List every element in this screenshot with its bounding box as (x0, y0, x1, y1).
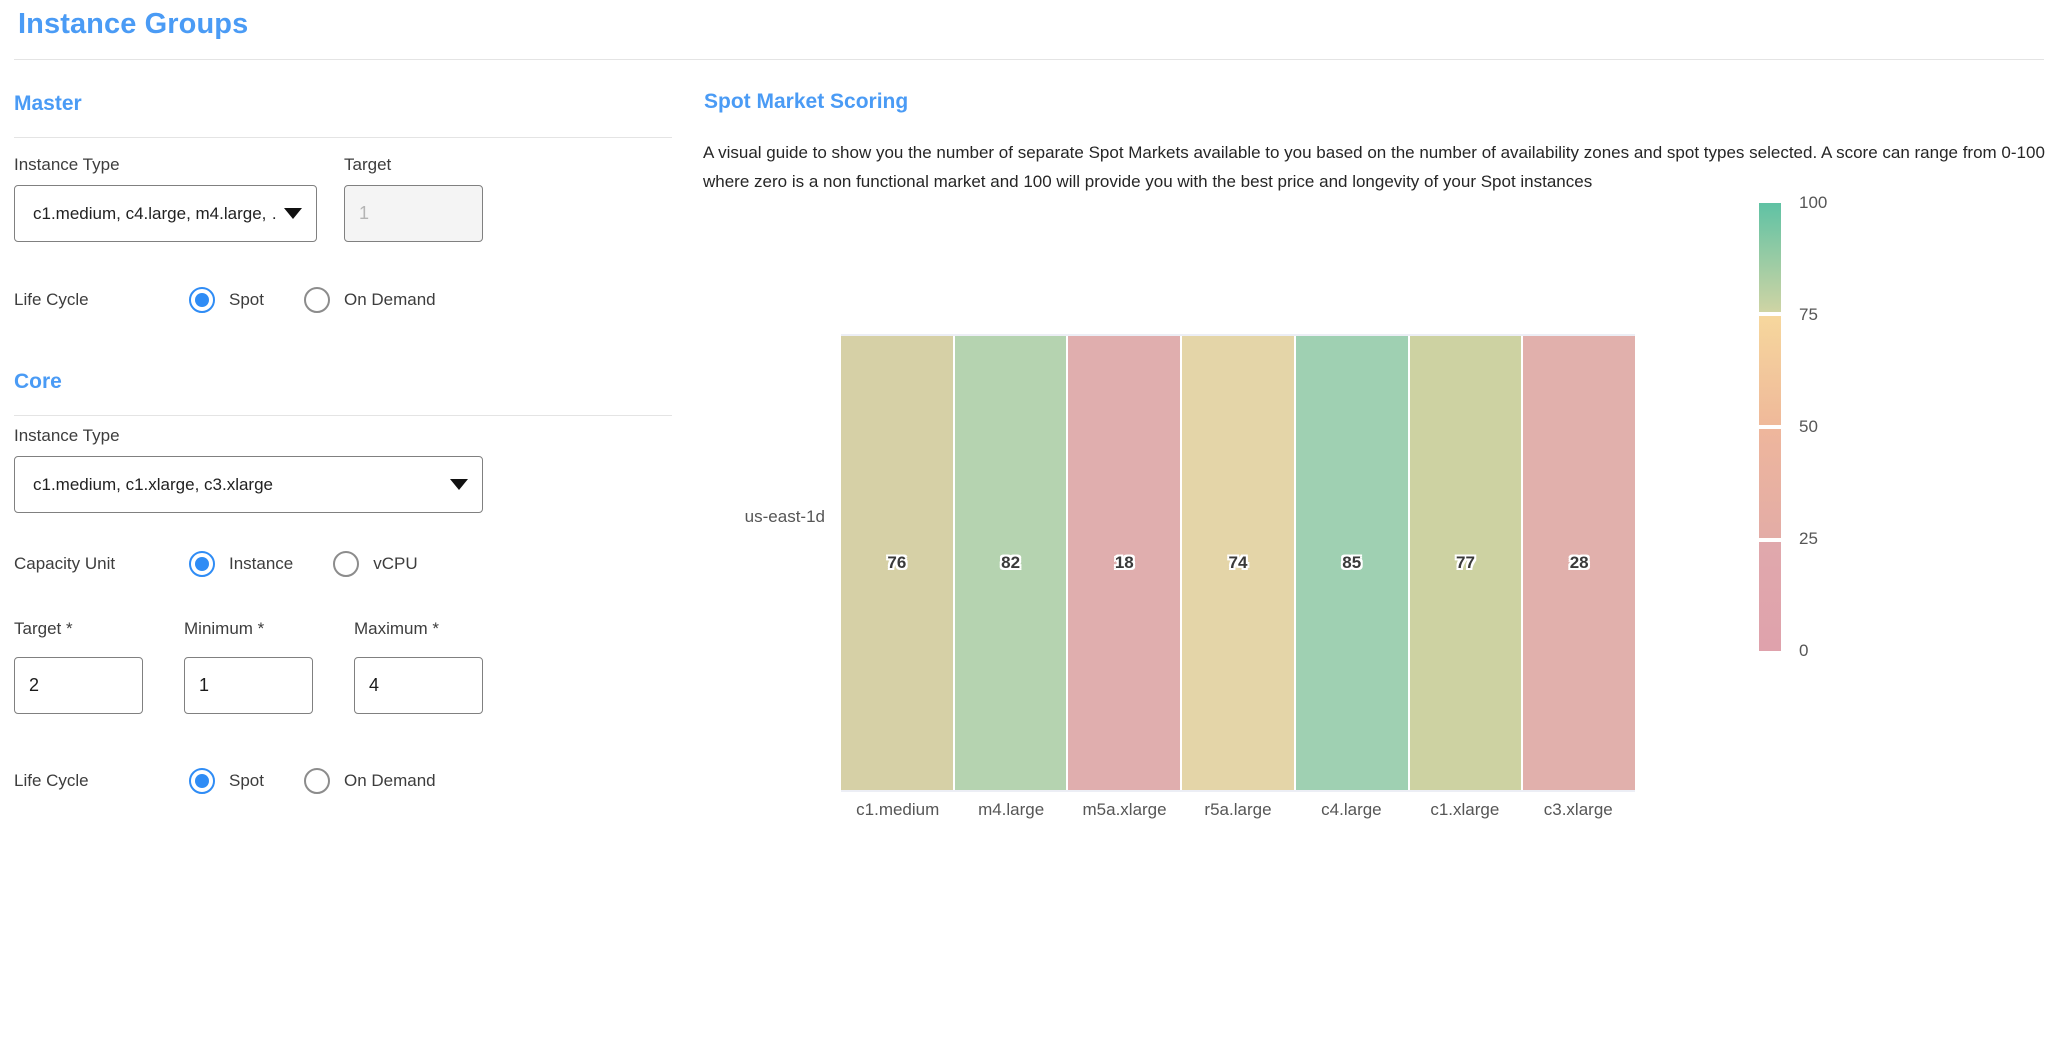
core-maximum-label: Maximum * (354, 619, 439, 639)
core-target-label: Target * (14, 619, 73, 639)
heatmap-x-label: m4.large (954, 800, 1067, 820)
heatmap-cell-value: 76 (887, 553, 906, 573)
colorbar-segment (1759, 203, 1781, 312)
instance-groups-page: Instance Groups Master Instance Type c1.… (0, 0, 2058, 1058)
core-capacity-unit-group: Capacity Unit Instance vCPU (14, 551, 458, 577)
colorbar-tick-label: 75 (1799, 305, 1818, 325)
core-life-cycle-label: Life Cycle (14, 771, 189, 791)
core-capacity-unit-vcpu-label: vCPU (373, 554, 417, 574)
spot-market-scoring-panel: Spot Market Scoring A visual guide to sh… (700, 70, 2058, 1058)
heatmap-colorbar: 1007550250 (1759, 200, 2058, 720)
core-life-cycle-on-demand-label: On Demand (344, 771, 436, 791)
heatmap-cell-value: 28 (1570, 553, 1589, 573)
core-life-cycle-option-on-demand[interactable]: On Demand (304, 768, 436, 794)
heatmap-row-label: us-east-1d (700, 507, 825, 527)
master-section-heading: Master (14, 92, 82, 116)
page-title: Instance Groups (18, 8, 248, 41)
colorbar-tick-label: 0 (1799, 641, 1808, 661)
heatmap-cell[interactable]: 74 (1182, 336, 1296, 790)
colorbar-gradient (1759, 203, 1781, 651)
heatmap-x-label: m5a.xlarge (1068, 800, 1181, 820)
heatmap-cell[interactable]: 82 (955, 336, 1069, 790)
radio-icon[interactable] (333, 551, 359, 577)
radio-icon[interactable] (189, 551, 215, 577)
core-capacity-unit-instance-label: Instance (229, 554, 293, 574)
core-capacity-unit-option-instance[interactable]: Instance (189, 551, 293, 577)
core-capacity-unit-label: Capacity Unit (14, 554, 189, 574)
core-section-heading: Core (14, 370, 62, 394)
master-instance-type-label: Instance Type (14, 155, 120, 175)
master-life-cycle-on-demand-label: On Demand (344, 290, 436, 310)
spot-market-heatmap: us-east-1d 76821874857728 c1.mediumm4.la… (700, 200, 2058, 720)
core-maximum-input[interactable]: 4 (354, 657, 483, 714)
instance-groups-form: Master Instance Type c1.medium, c4.large… (0, 70, 700, 1058)
colorbar-segment (1759, 429, 1781, 538)
master-life-cycle-option-on-demand[interactable]: On Demand (304, 287, 436, 313)
spot-market-scoring-description: A visual guide to show you the number of… (703, 138, 2051, 196)
heatmap-x-label: c1.medium (841, 800, 954, 820)
heatmap-cell[interactable]: 76 (841, 336, 955, 790)
radio-icon[interactable] (189, 287, 215, 313)
heatmap-cell[interactable]: 77 (1410, 336, 1524, 790)
core-instance-type-label: Instance Type (14, 426, 120, 446)
spot-market-scoring-title: Spot Market Scoring (704, 90, 908, 114)
colorbar-segment (1759, 542, 1781, 651)
master-section-divider (14, 137, 672, 138)
title-divider (14, 59, 2044, 60)
heatmap-cell[interactable]: 85 (1296, 336, 1410, 790)
master-life-cycle-group: Life Cycle Spot On Demand (14, 287, 476, 313)
core-capacity-unit-option-vcpu[interactable]: vCPU (333, 551, 417, 577)
heatmap-cell[interactable]: 18 (1068, 336, 1182, 790)
core-minimum-label: Minimum * (184, 619, 264, 639)
master-life-cycle-option-spot[interactable]: Spot (189, 287, 264, 313)
master-instance-type-value: c1.medium, c4.large, m4.large, … (33, 204, 276, 224)
core-life-cycle-spot-label: Spot (229, 771, 264, 791)
core-instance-type-value: c1.medium, c1.xlarge, c3.xlarge (33, 475, 442, 495)
heatmap-cell-value: 85 (1342, 553, 1361, 573)
radio-icon[interactable] (304, 287, 330, 313)
core-minimum-input[interactable]: 1 (184, 657, 313, 714)
heatmap-x-axis-labels: c1.mediumm4.largem5a.xlarger5a.largec4.l… (841, 800, 1635, 820)
master-instance-type-select[interactable]: c1.medium, c4.large, m4.large, … (14, 185, 317, 242)
radio-icon[interactable] (304, 768, 330, 794)
colorbar-tick-label: 25 (1799, 529, 1818, 549)
heatmap-cell-value: 18 (1115, 553, 1134, 573)
core-section-divider (14, 415, 672, 416)
colorbar-tick-label: 100 (1799, 193, 1827, 213)
core-target-input[interactable]: 2 (14, 657, 143, 714)
core-instance-type-select[interactable]: c1.medium, c1.xlarge, c3.xlarge (14, 456, 483, 513)
heatmap-x-label: c1.xlarge (1408, 800, 1521, 820)
core-life-cycle-option-spot[interactable]: Spot (189, 768, 264, 794)
heatmap-cell-value: 77 (1456, 553, 1475, 573)
master-life-cycle-label: Life Cycle (14, 290, 189, 310)
heatmap-cell-value: 74 (1229, 553, 1248, 573)
master-target-label: Target (344, 155, 391, 175)
colorbar-segment (1759, 316, 1781, 425)
heatmap-x-label: c4.large (1295, 800, 1408, 820)
master-life-cycle-spot-label: Spot (229, 290, 264, 310)
chevron-down-icon (284, 208, 302, 219)
colorbar-tick-label: 50 (1799, 417, 1818, 437)
core-life-cycle-group: Life Cycle Spot On Demand (14, 768, 476, 794)
heatmap-x-label: r5a.large (1181, 800, 1294, 820)
heatmap-cell-value: 82 (1001, 553, 1020, 573)
radio-icon[interactable] (189, 768, 215, 794)
heatmap-cell[interactable]: 28 (1523, 336, 1635, 790)
chevron-down-icon (450, 479, 468, 490)
heatmap-cells: 76821874857728 (841, 336, 1635, 790)
heatmap-x-label: c3.xlarge (1522, 800, 1635, 820)
master-target-input[interactable]: 1 (344, 185, 483, 242)
